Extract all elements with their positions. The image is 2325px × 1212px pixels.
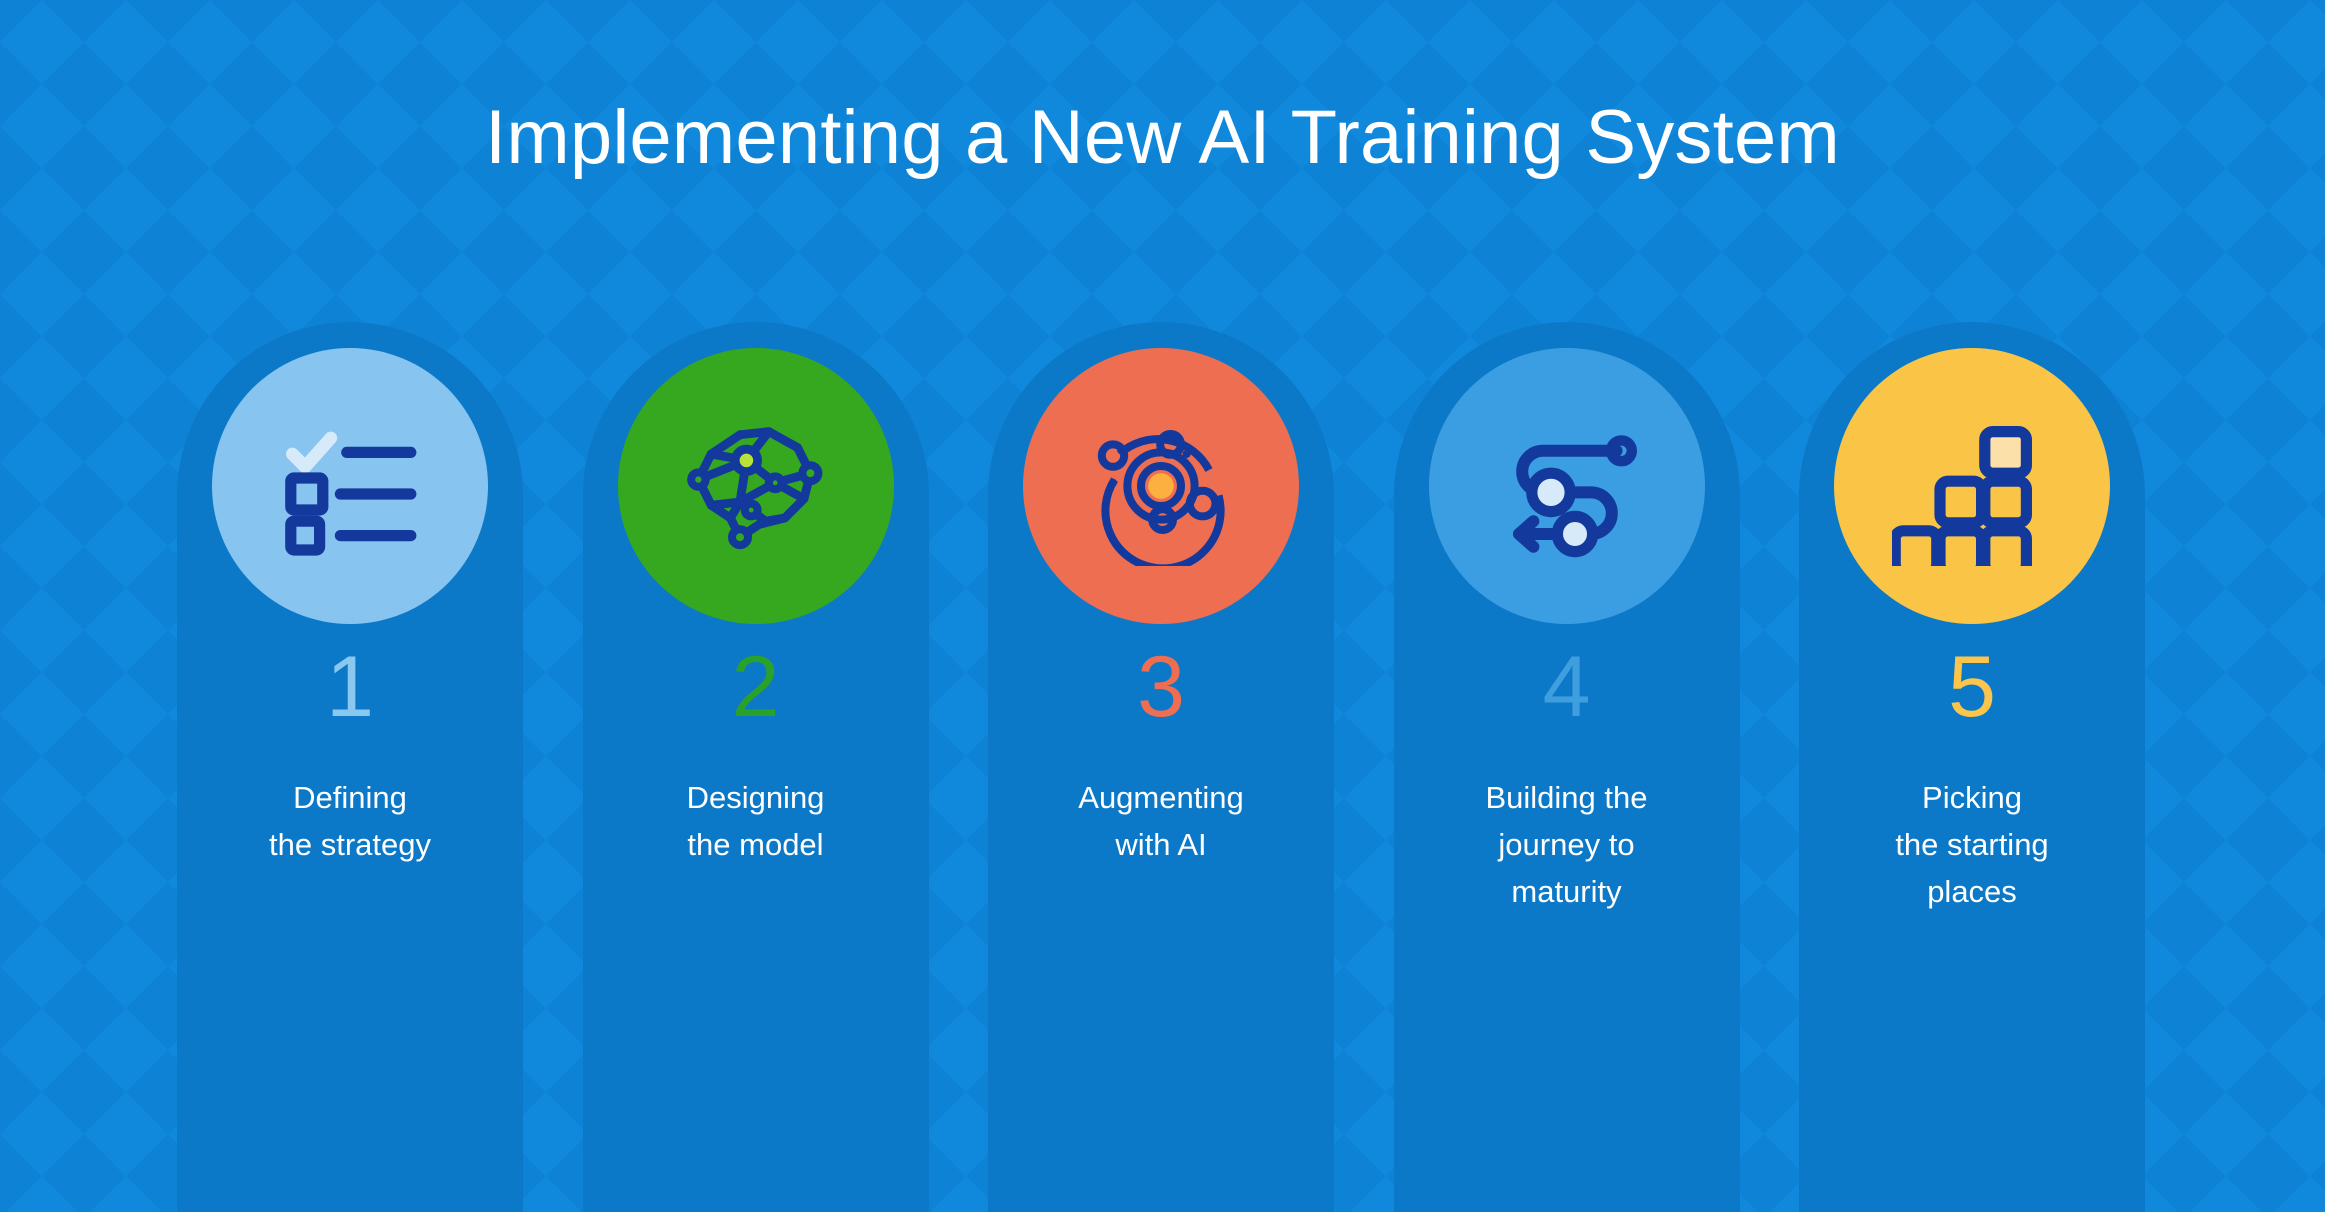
step-5-label: Picking the starting places	[1799, 774, 2145, 915]
step-5-number: 5	[1799, 644, 2145, 730]
step-1-label-line-1: Defining	[191, 774, 509, 821]
step-1-label: Defining the strategy	[177, 774, 523, 868]
steps-row: 1 Defining the strategy	[177, 322, 2145, 1212]
step-1-number: 1	[177, 644, 523, 730]
neural-brain-icon	[676, 406, 836, 566]
orbit-atom-icon	[1081, 406, 1241, 566]
step-column-2[interactable]: 2 Designing the model	[583, 322, 929, 1212]
page-title: Implementing a New AI Training System	[0, 94, 2325, 181]
step-column-1[interactable]: 1 Defining the strategy	[177, 322, 523, 1212]
step-4-label: Building the journey to maturity	[1394, 774, 1740, 915]
step-2-number: 2	[583, 644, 929, 730]
step-4-label-line-3: maturity	[1408, 868, 1726, 915]
step-2-label-line-2: the model	[597, 821, 915, 868]
step-3-label: Augmenting with AI	[988, 774, 1334, 868]
step-4-label-line-2: journey to	[1408, 821, 1726, 868]
step-2-label: Designing the model	[583, 774, 929, 868]
step-4-number: 4	[1394, 644, 1740, 730]
step-column-3[interactable]: 3 Augmenting with AI	[988, 322, 1334, 1212]
step-1-label-line-2: the strategy	[191, 821, 509, 868]
step-5-label-line-3: places	[1813, 868, 2131, 915]
step-column-5[interactable]: 5 Picking the starting places	[1799, 322, 2145, 1212]
step-5-icon-circle[interactable]	[1834, 348, 2110, 624]
step-2-icon-circle[interactable]	[618, 348, 894, 624]
journey-path-icon	[1487, 406, 1647, 566]
step-3-number: 3	[988, 644, 1334, 730]
step-1-icon-circle[interactable]	[212, 348, 488, 624]
step-column-4[interactable]: 4 Building the journey to maturity	[1394, 322, 1740, 1212]
building-blocks-icon	[1892, 406, 2052, 566]
step-4-icon-circle[interactable]	[1429, 348, 1705, 624]
checklist-icon	[270, 406, 430, 566]
step-5-label-line-1: Picking	[1813, 774, 2131, 821]
step-5-label-line-2: the starting	[1813, 821, 2131, 868]
step-3-label-line-2: with AI	[1002, 821, 1320, 868]
step-3-icon-circle[interactable]	[1023, 348, 1299, 624]
step-4-label-line-1: Building the	[1408, 774, 1726, 821]
step-2-label-line-1: Designing	[597, 774, 915, 821]
step-3-label-line-1: Augmenting	[1002, 774, 1320, 821]
